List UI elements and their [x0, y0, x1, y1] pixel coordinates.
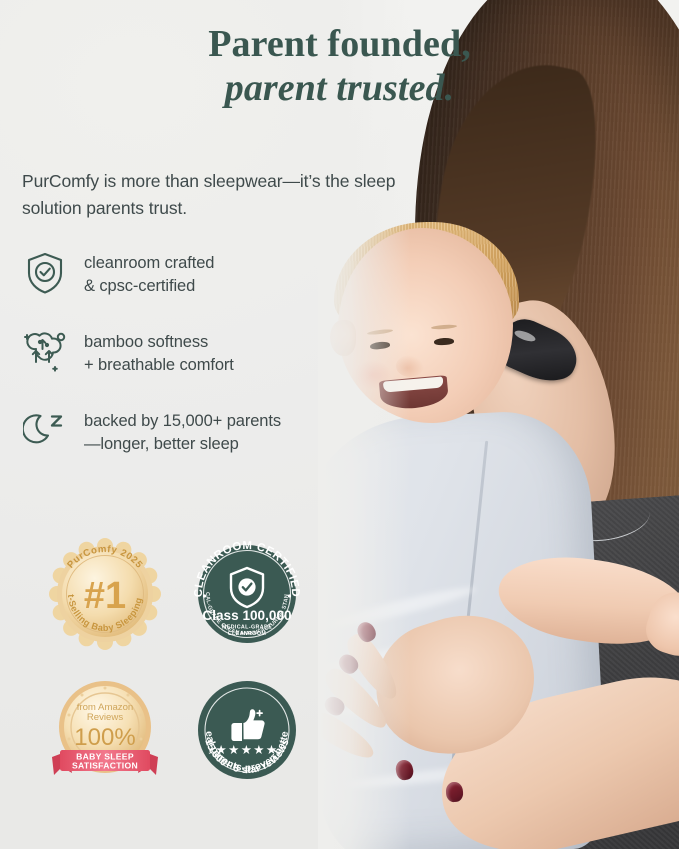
- feature-line-1: backed by 15,000+ parents: [84, 412, 281, 430]
- feature-line-2: + breathable comfort: [84, 356, 234, 374]
- badge-sub-line-2: CLEANROOM: [228, 631, 267, 637]
- amazon-satisfaction-medal: from Amazon Reviews 100% BABY SLEEP SATI…: [40, 671, 170, 789]
- feature-text: bamboo softness + breathable comfort: [84, 329, 234, 378]
- seal-rank: #1: [84, 575, 126, 617]
- cleanroom-certified-badge: CLEANROOM CERTIFIED MEDICAL-GRADE CLEAN …: [182, 535, 312, 653]
- shield-check-icon: [22, 250, 68, 296]
- star-rating: ★★★★★: [215, 742, 278, 757]
- medal-percent: 100%: [74, 724, 135, 751]
- reviews-thumbs-badge: 15,000+ 5 star reviews real parents-prov…: [182, 671, 312, 789]
- headline-line-1: Parent founded,: [208, 23, 471, 65]
- breathable-cotton-icon: [22, 329, 68, 375]
- trust-badges: PurComfy 2025 Best-Selling Baby Sleeping…: [40, 535, 318, 789]
- feature-line-2: & cpsc-certified: [84, 277, 195, 295]
- child-teeth: [383, 376, 444, 392]
- child-nose: [396, 355, 424, 377]
- moon-sleep-icon: [22, 408, 68, 454]
- feature-text: cleanroom crafted & cpsc-certified: [84, 250, 214, 299]
- feature-line-2: —longer, better sleep: [84, 435, 239, 453]
- badge-class: Class 100,000: [202, 608, 291, 623]
- lifestyle-photo: [318, 0, 679, 849]
- fingernail: [445, 781, 463, 802]
- badge-sub-line-1: MEDICAL-GRADE: [222, 625, 272, 631]
- headline: Parent founded, parent trusted.: [0, 22, 679, 110]
- ad-creative: Parent founded, parent trusted. PurComfy…: [0, 0, 679, 849]
- subheadline: PurComfy is more than sleepwear—it’s the…: [22, 168, 422, 221]
- feature-text: backed by 15,000+ parents —longer, bette…: [84, 408, 281, 457]
- feature-item: backed by 15,000+ parents —longer, bette…: [22, 408, 352, 457]
- best-seller-seal: PurComfy 2025 Best-Selling Baby Sleeping…: [40, 535, 170, 653]
- feature-item: cleanroom crafted & cpsc-certified: [22, 250, 352, 299]
- feature-line-1: cleanroom crafted: [84, 254, 214, 272]
- medal-top-line-2: Reviews: [87, 712, 123, 723]
- feature-list: cleanroom crafted & cpsc-certified: [22, 250, 352, 487]
- ribbon-line-2: SATISFACTION: [72, 761, 138, 771]
- headline-line-2: parent trusted.: [0, 66, 679, 110]
- feature-line-1: bamboo softness: [84, 333, 208, 351]
- feature-item: bamboo softness + breathable comfort: [22, 329, 352, 378]
